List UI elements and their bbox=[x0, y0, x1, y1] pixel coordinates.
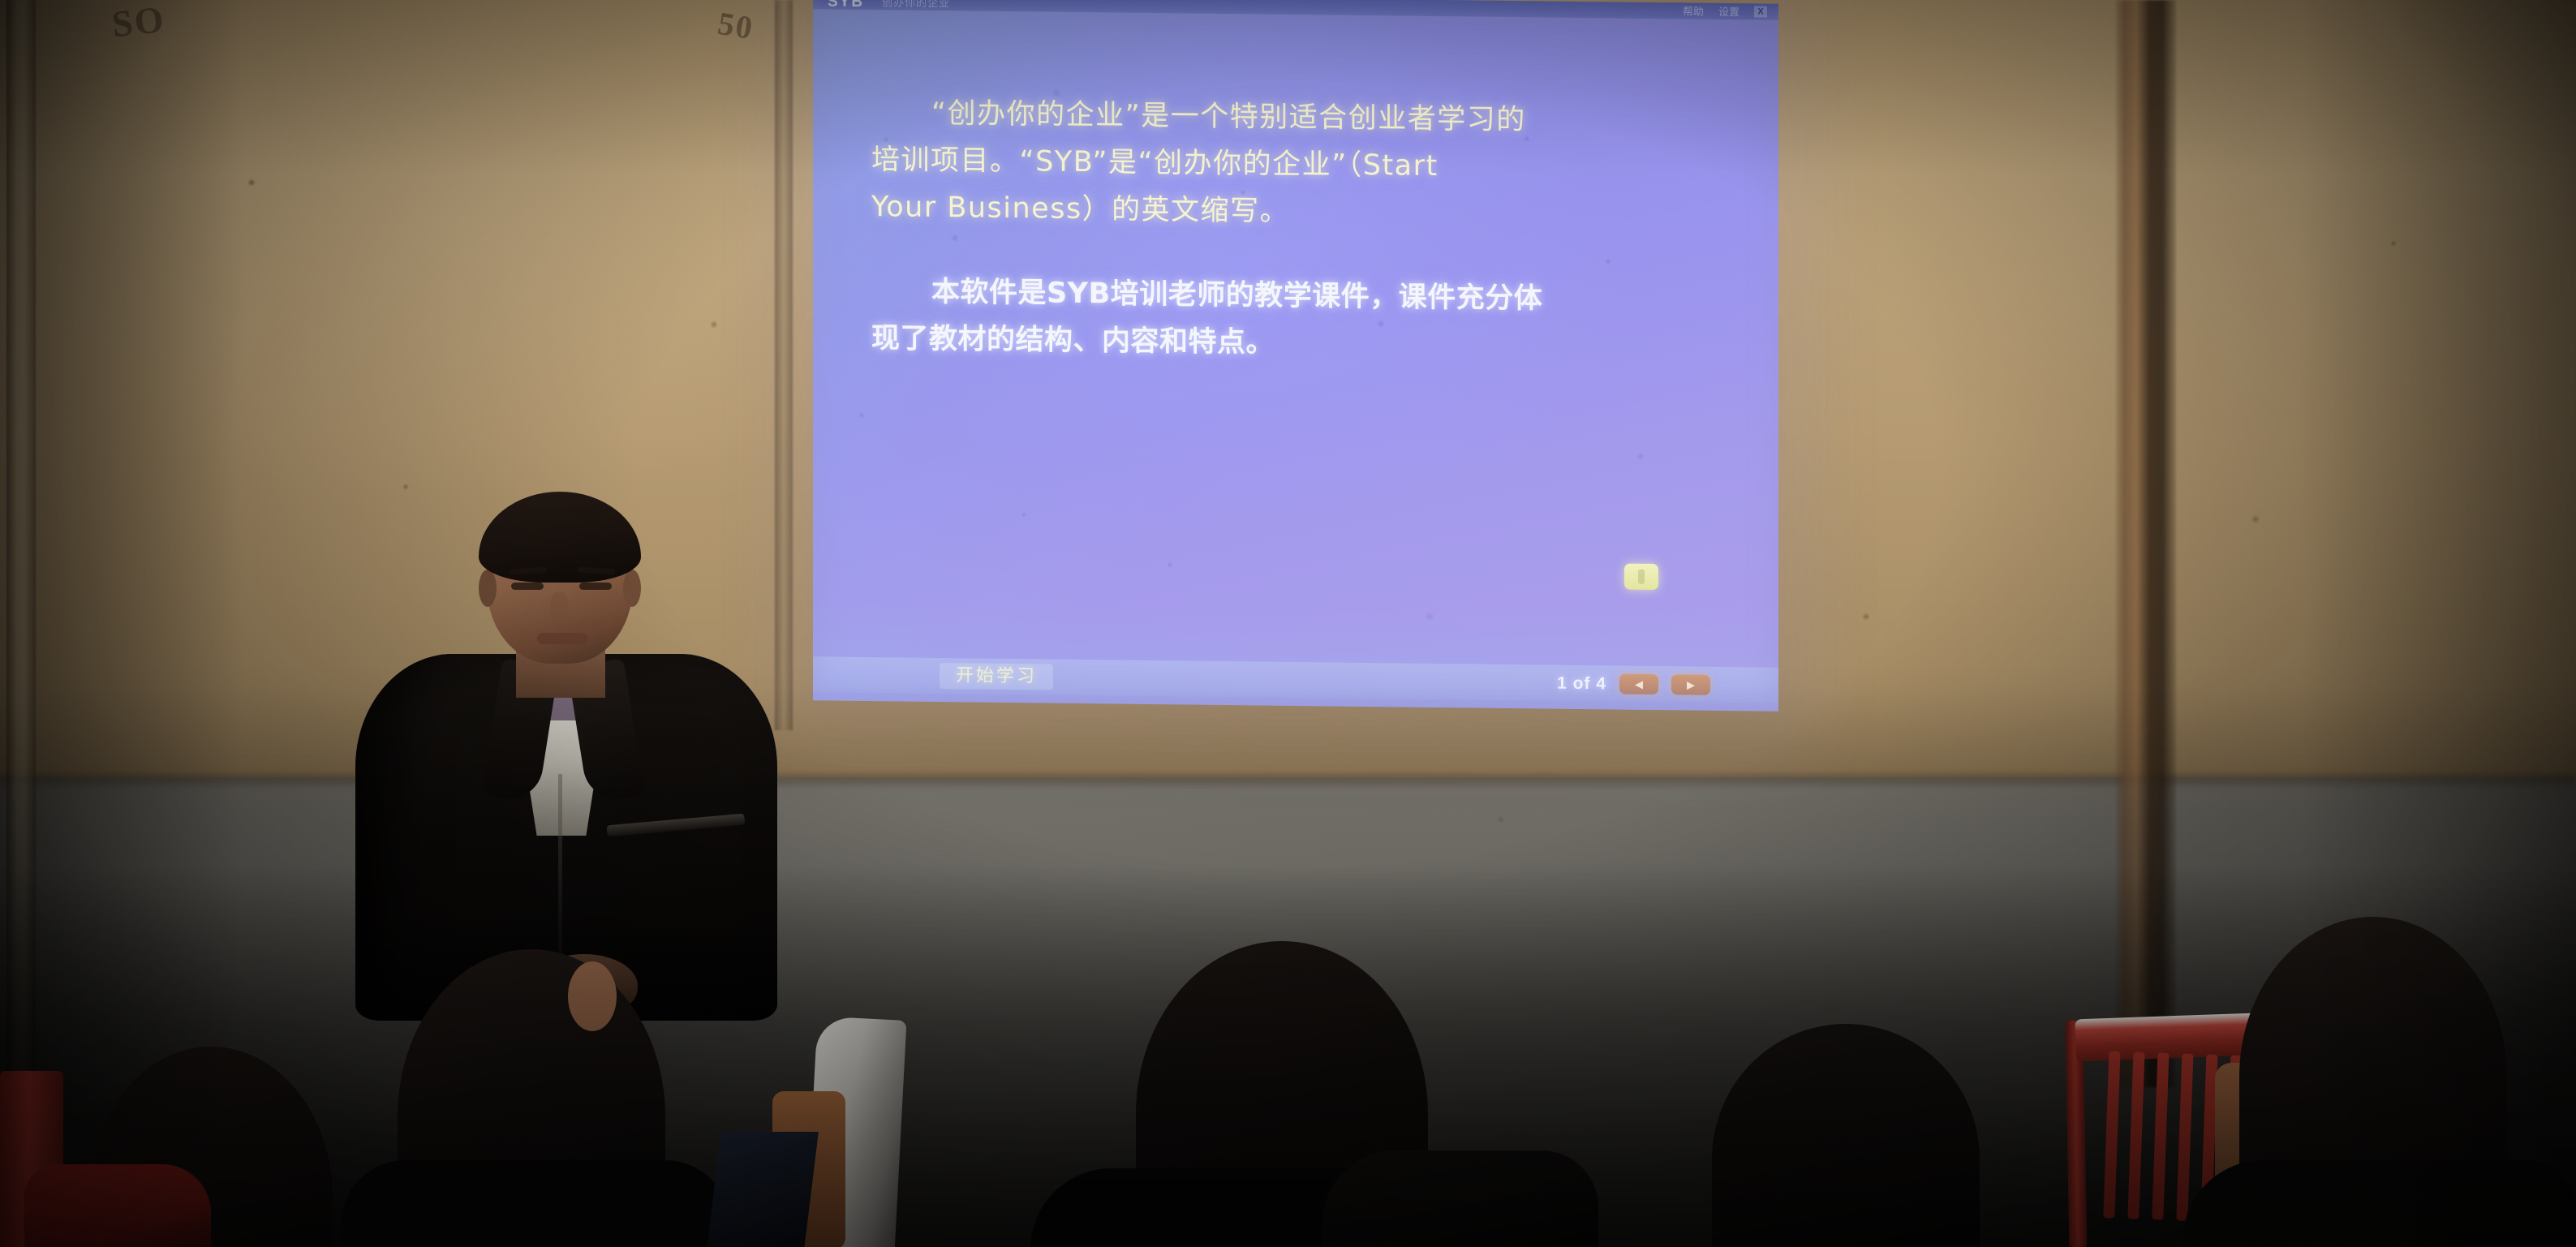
presenter-eye-left bbox=[511, 583, 544, 590]
chair-slat bbox=[2152, 1052, 2169, 1219]
presenter-mouth bbox=[537, 633, 587, 644]
wall-pillar-left bbox=[6, 0, 36, 1103]
chair-slat bbox=[2127, 1051, 2144, 1219]
presenter-eye-right bbox=[579, 583, 612, 590]
presenter-jacket-zipper bbox=[558, 774, 562, 969]
presenter-hair bbox=[479, 492, 641, 583]
chair-slat bbox=[2176, 1053, 2193, 1220]
chair-slat bbox=[2103, 1051, 2120, 1218]
presenter-nose bbox=[550, 592, 568, 625]
wall-conduit-pipe bbox=[2116, 0, 2176, 1087]
audience-head-4 bbox=[1322, 1150, 1598, 1247]
projected-slide[interactable]: SYB 创办你的企业 帮助 设置 X “创办你的企业”是一个特别适合创业者学习的… bbox=[813, 0, 1778, 712]
audience-garment-red bbox=[24, 1164, 211, 1247]
projection-edge-glow bbox=[813, 0, 1778, 712]
audience-shoulder-2 bbox=[341, 1160, 730, 1247]
audience-shoulder-6 bbox=[2183, 1160, 2576, 1247]
audience-ear-2 bbox=[568, 961, 617, 1031]
audience-collar-2 bbox=[707, 1132, 819, 1247]
classroom-scene: SO 50 55 SYB 创办你的企业 帮助 设置 X “创办你的企业”是一个特… bbox=[0, 0, 2576, 1247]
presenter-ear-right bbox=[623, 570, 641, 607]
presenter-figure bbox=[349, 501, 836, 1021]
presenter-ear-left bbox=[479, 570, 497, 607]
